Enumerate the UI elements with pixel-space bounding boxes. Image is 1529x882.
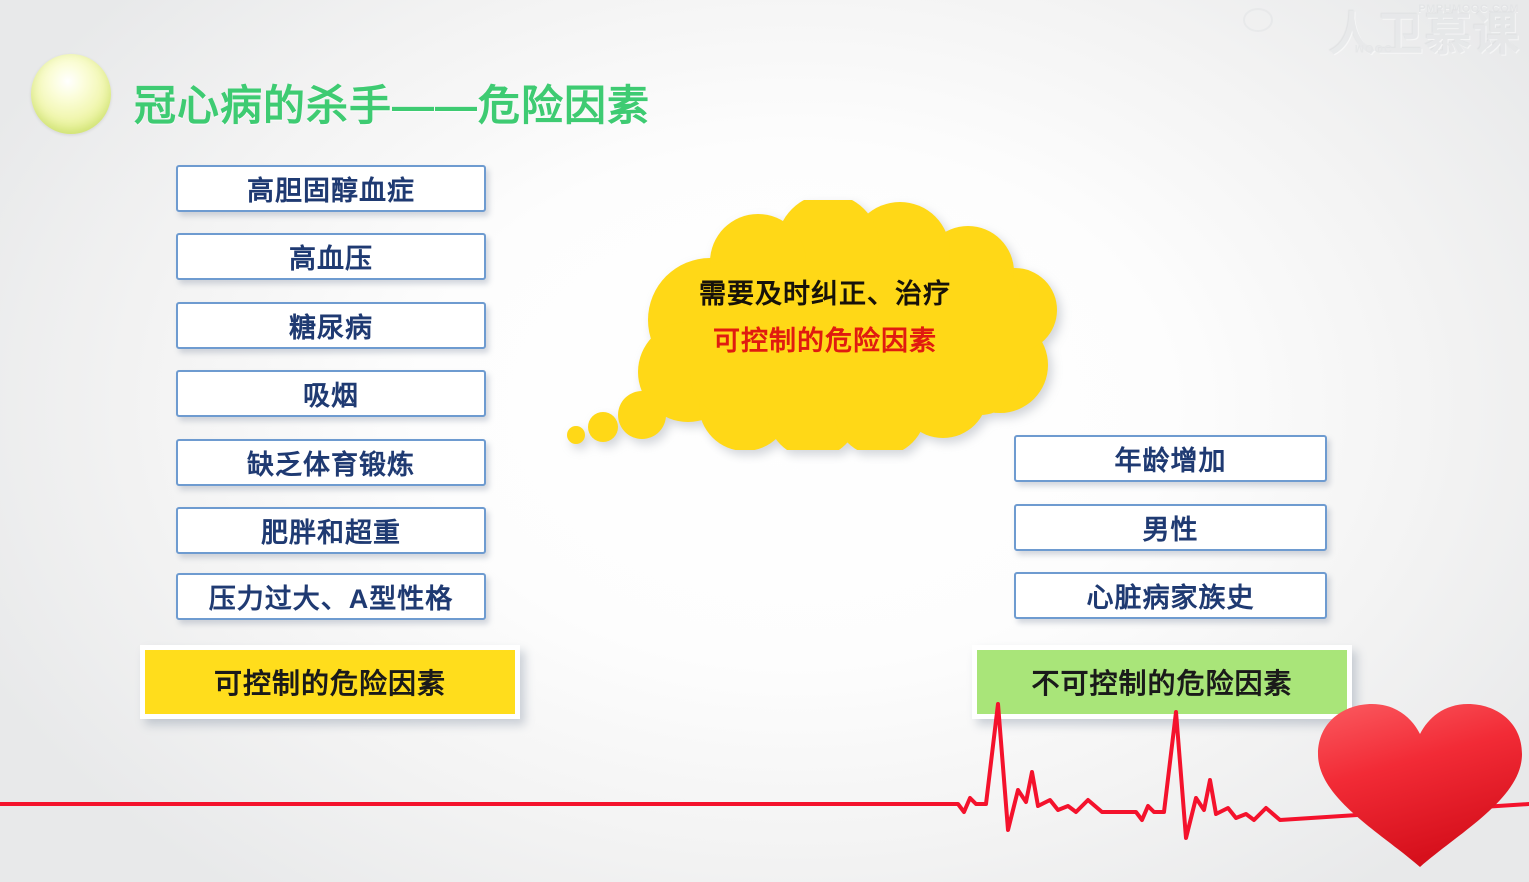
factor-box-stress[interactable]: 压力过大、A型性格 [176,573,486,620]
watermark-domain-text: PMPHMOOC.COM [1418,3,1519,15]
factor-box-cholesterol[interactable]: 高胆固醇血症 [176,165,486,212]
factor-box-diabetes[interactable]: 糖尿病 [176,302,486,349]
watermark-mooc-text: MOOC [1355,42,1393,54]
title-bullet-circle-icon [31,54,111,134]
thought-cloud-icon [560,200,1090,450]
factor-box-family-history[interactable]: 心脏病家族史 [1014,572,1327,619]
slide-canvas: PMPHMOOC.COM 人卫慕课 MOOC 冠心病的杀手——危险因素 高胆固醇… [0,0,1529,882]
watermark-seal-icon [1243,8,1273,32]
banner-controllable-risk-factors[interactable]: 可控制的危险因素 [140,645,520,719]
factor-box-obesity[interactable]: 肥胖和超重 [176,507,486,554]
watermark-brand-text: 人卫慕课 [1329,8,1521,60]
factor-box-smoking[interactable]: 吸烟 [176,370,486,417]
banner-uncontrollable-risk-factors[interactable]: 不可控制的危险因素 [972,645,1352,719]
factor-box-hypertension[interactable]: 高血压 [176,233,486,280]
watermark: PMPHMOOC.COM 人卫慕课 MOOC [1233,2,1525,66]
factor-box-no-exercise[interactable]: 缺乏体育锻炼 [176,439,486,486]
page-title: 冠心病的杀手——危险因素 [134,72,650,133]
heart-icon [1318,704,1522,867]
factor-box-male[interactable]: 男性 [1014,504,1327,551]
